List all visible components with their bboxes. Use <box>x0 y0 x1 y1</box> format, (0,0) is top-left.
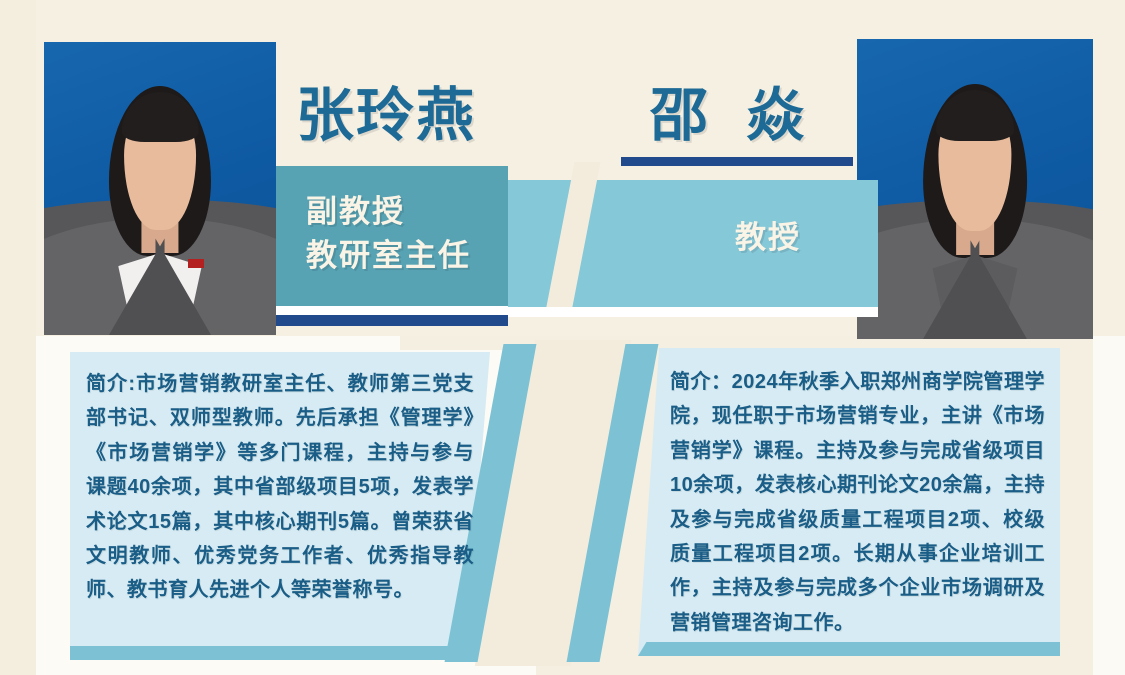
faculty-profile-poster: 张玲燕 邵 焱 副教授 教研室主任 教授 简介:市场营销教研室主任、教师第三党支… <box>0 0 1125 675</box>
left-band-bottom-white-rule <box>276 306 508 315</box>
right-title-band-main <box>583 180 878 307</box>
background-left-cream-edge <box>0 0 36 675</box>
left-bio-panel-bottom-bar <box>70 646 490 660</box>
right-band-bottom-white-rule <box>508 307 878 317</box>
left-profile-name: 张玲燕 <box>296 68 476 152</box>
right-profile-name: 邵 焱 <box>650 68 806 152</box>
right-profile-bio: 简介：2024年秋季入职郑州商学院管理学院，现任职于市场营销专业，主讲《市场营销… <box>670 365 1045 640</box>
left-band-bottom-navy-rule <box>276 315 508 326</box>
right-profile-titles: 教授 <box>735 216 801 260</box>
background-right-white-edge <box>1093 336 1125 675</box>
left-portrait-photo <box>44 42 276 335</box>
right-bio-panel-bottom-bar <box>638 642 1060 656</box>
right-portrait-photo <box>857 39 1093 339</box>
left-portrait-lapel-badge <box>188 259 204 268</box>
left-profile-titles: 副教授 教研室主任 <box>306 190 471 278</box>
right-name-underline-rule <box>621 157 853 166</box>
left-profile-bio: 简介:市场营销教研室主任、教师第三党支部书记、双师型教师。先后承担《管理学》《市… <box>86 367 474 608</box>
